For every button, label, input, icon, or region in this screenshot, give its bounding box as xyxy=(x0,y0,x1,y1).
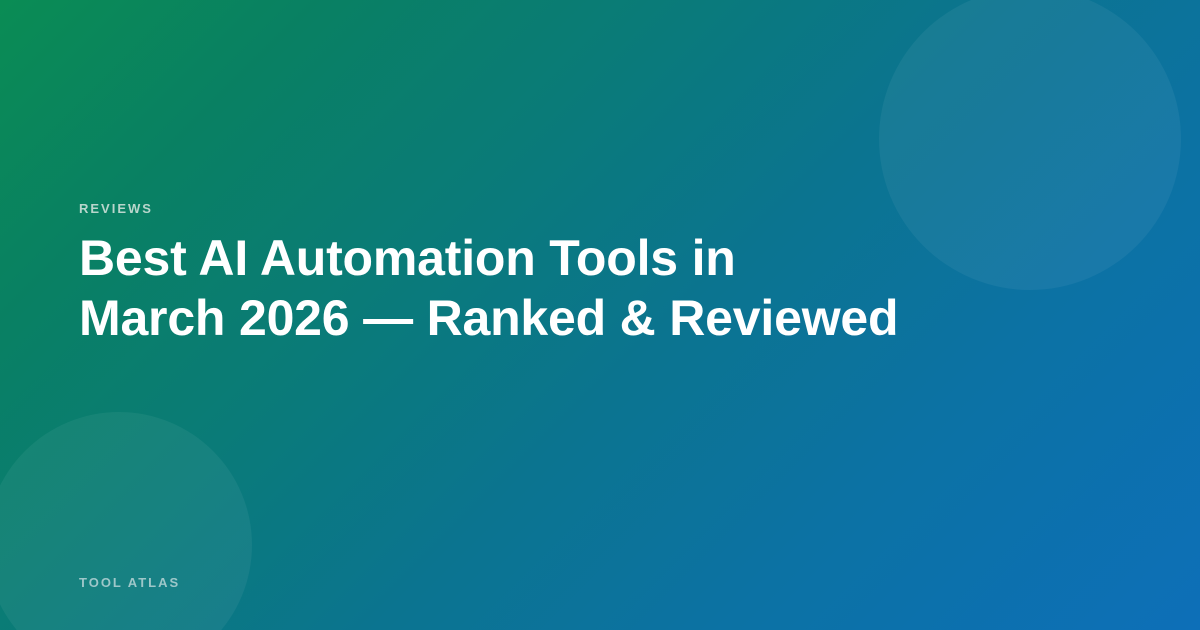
page-title: Best AI Automation Tools in March 2026 —… xyxy=(79,228,979,348)
headline-line-2: March 2026 — Ranked & Reviewed xyxy=(79,288,979,348)
headline-line-1: Best AI Automation Tools in xyxy=(79,228,979,288)
category-kicker: REVIEWS xyxy=(79,201,153,217)
card-content: REVIEWS Best AI Automation Tools in Marc… xyxy=(79,0,1079,630)
brand-wordmark: TOOL ATLAS xyxy=(79,575,180,591)
social-share-card: REVIEWS Best AI Automation Tools in Marc… xyxy=(0,0,1200,630)
